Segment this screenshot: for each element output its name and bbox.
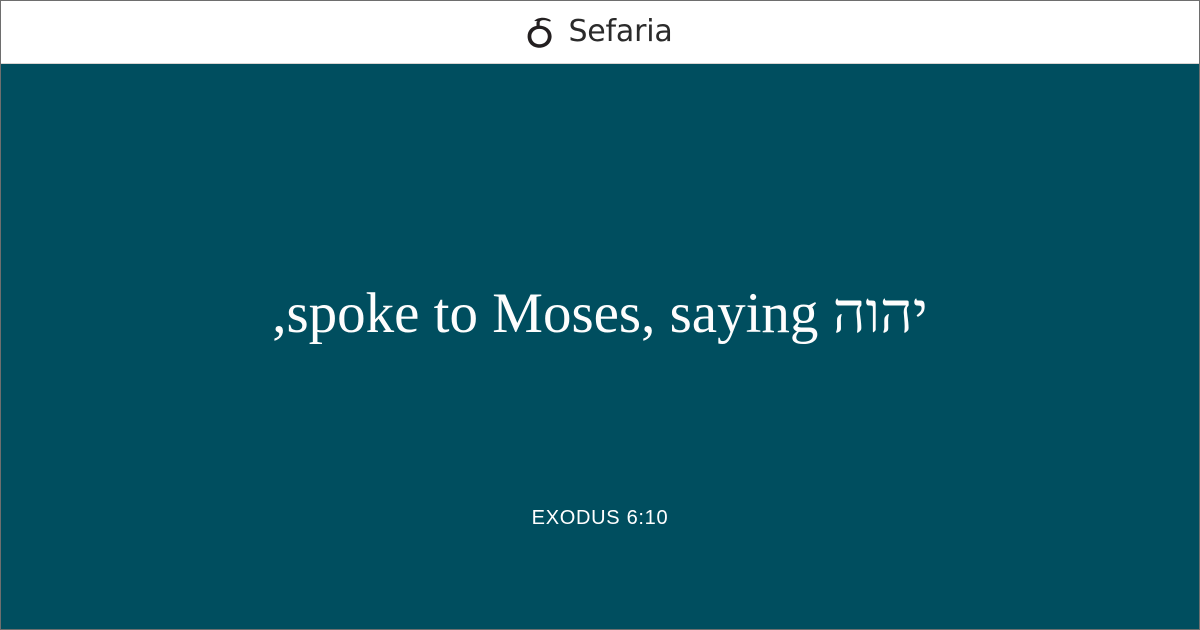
quote-container: יהוה spoke to Moses, saying,	[1, 64, 1199, 564]
quote-panel: יהוה spoke to Moses, saying, EXODUS 6:10	[1, 64, 1199, 629]
sefaria-logo[interactable]: Sefaria	[527, 1, 672, 63]
sefaria-quote-card: Sefaria יהוה spoke to Moses, saying, EXO…	[0, 0, 1200, 630]
quote-text: יהוה spoke to Moses, saying,	[272, 279, 928, 349]
sefaria-letter-mark-icon	[527, 15, 557, 50]
source-citation: EXODUS 6:10	[1, 507, 1199, 530]
site-header: Sefaria	[1, 1, 1199, 64]
brand-wordmark: Sefaria	[568, 17, 672, 47]
